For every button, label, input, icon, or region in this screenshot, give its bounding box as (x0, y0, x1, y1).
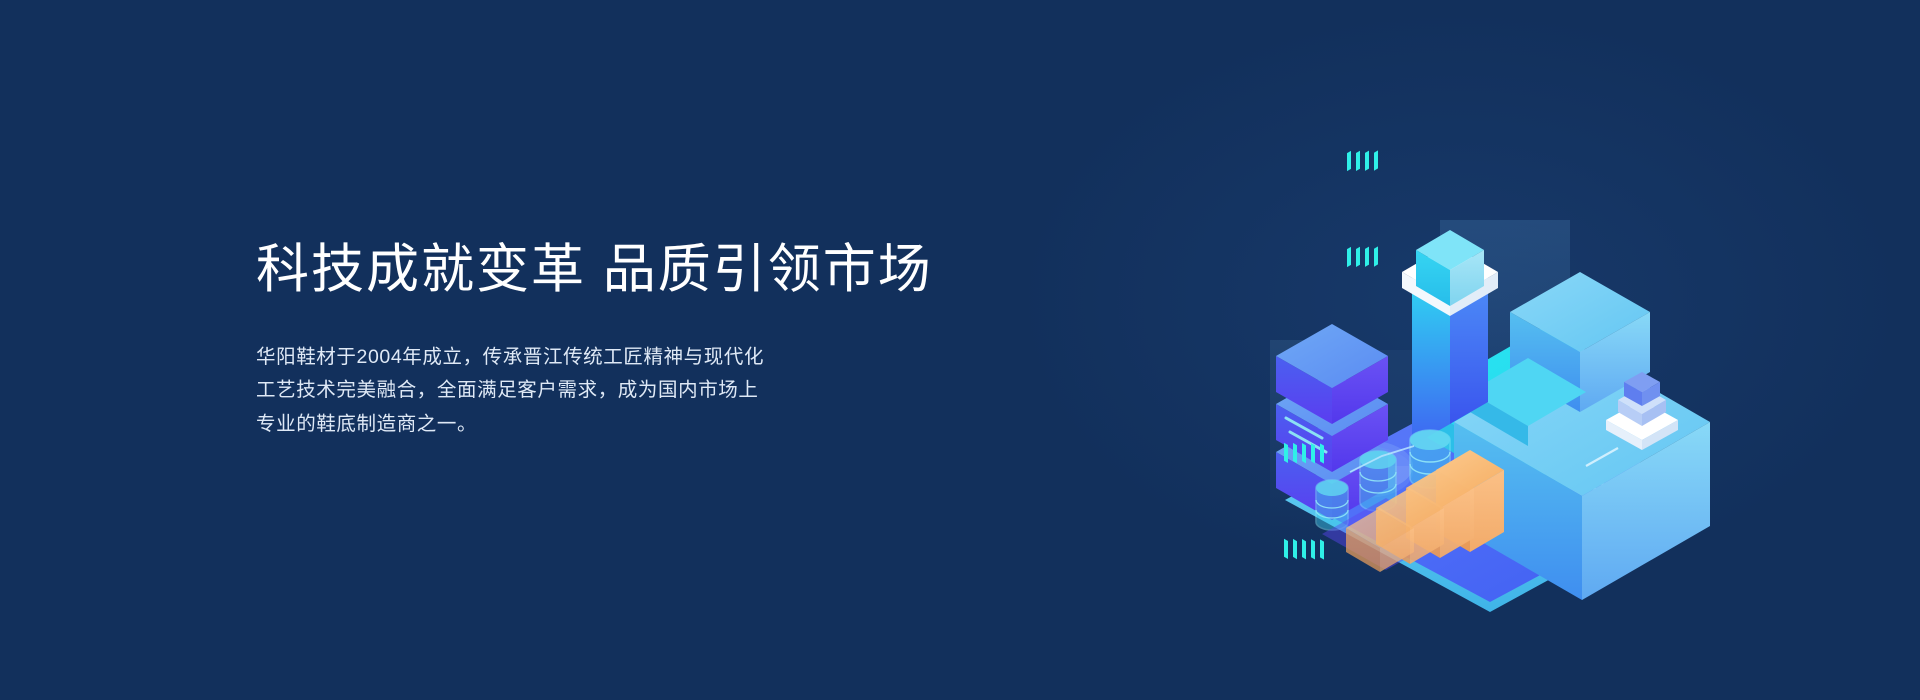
hero-description-line: 专业的鞋底制造商之一。 (256, 408, 876, 442)
isometric-city-illustration (1150, 100, 1770, 560)
hero-banner: 科技成就变革 品质引领市场 华阳鞋材于2004年成立，传承晋江传统工匠精神与现代… (0, 0, 1920, 700)
hero-description-line: 工艺技术完美融合，全面满足客户需求，成为国内市场上 (256, 374, 876, 408)
hero-copy-block: 科技成就变革 品质引领市场 华阳鞋材于2004年成立，传承晋江传统工匠精神与现代… (256, 238, 1016, 441)
hero-description-line: 华阳鞋材于2004年成立，传承晋江传统工匠精神与现代化 (256, 341, 876, 375)
page-title: 科技成就变革 品质引领市场 (256, 238, 1016, 303)
hero-description: 华阳鞋材于2004年成立，传承晋江传统工匠精神与现代化 工艺技术完美融合，全面满… (256, 341, 876, 442)
